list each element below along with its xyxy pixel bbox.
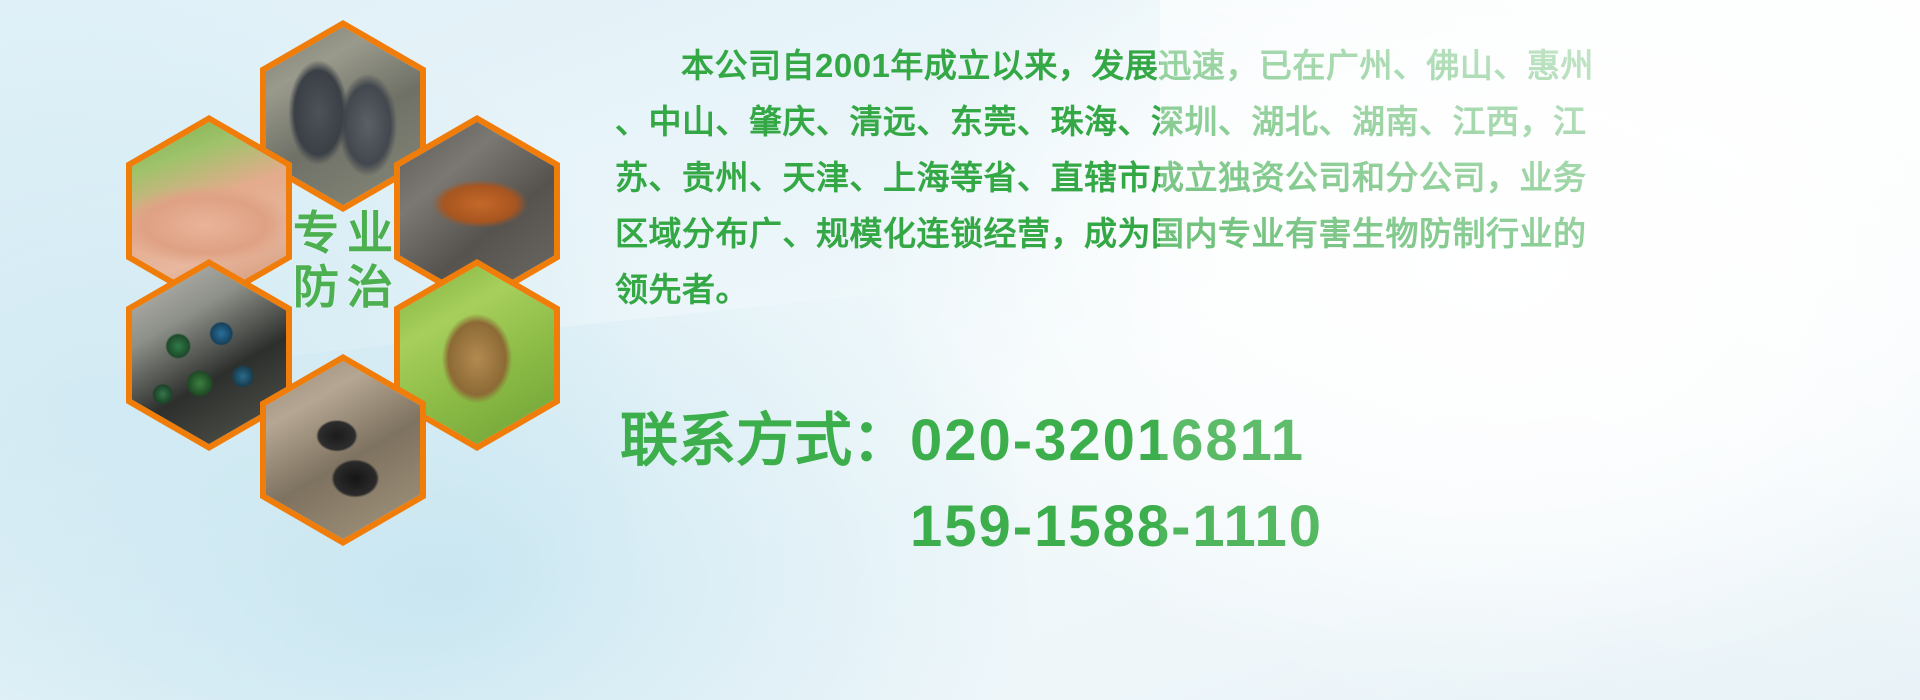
honeycomb-photo-cluster: 专业 防治 [90, 10, 590, 590]
description-line-4: 区域分布广、规模化连锁经营，成为国内专业有害生物防制行业的 [615, 206, 1915, 262]
contact-primary-line: 联系方式：020-32016811 [620, 398, 1920, 484]
company-description: 本公司自2001年成立以来，发展迅速，已在广州、佛山、惠州 、中山、肇庆、清远、… [615, 38, 1915, 318]
contact-label: 联系方式： [620, 408, 910, 473]
hex-badge-professional-control: 专业 防治 [260, 164, 426, 356]
description-line-1: 本公司自2001年成立以来，发展迅速，已在广州、佛山、惠州 [615, 38, 1915, 94]
description-line-3: 苏、贵州、天津、上海等省、直辖市成立独资公司和分公司，业务 [615, 150, 1915, 206]
hex-badge-line2: 防治 [285, 260, 401, 314]
description-line-5: 领先者。 [615, 262, 1915, 318]
contact-phone-landline[interactable]: 020-32016811 [910, 408, 1305, 473]
description-line-2: 、中山、肇庆、清远、东莞、珠海、深圳、湖北、湖南、江西，江 [615, 94, 1915, 150]
contact-block: 联系方式：020-32016811 159-1588-1110 [620, 398, 1920, 570]
contact-phone-mobile[interactable]: 159-1588-1110 [910, 494, 1323, 559]
hex-badge-line1: 专业 [285, 206, 401, 260]
contact-secondary-line: 159-1588-1110 [620, 484, 1920, 570]
promo-banner: 专业 防治 本公司自2001年成立以来，发展迅速，已在广州、佛山、惠州 、中山、… [0, 0, 1920, 700]
